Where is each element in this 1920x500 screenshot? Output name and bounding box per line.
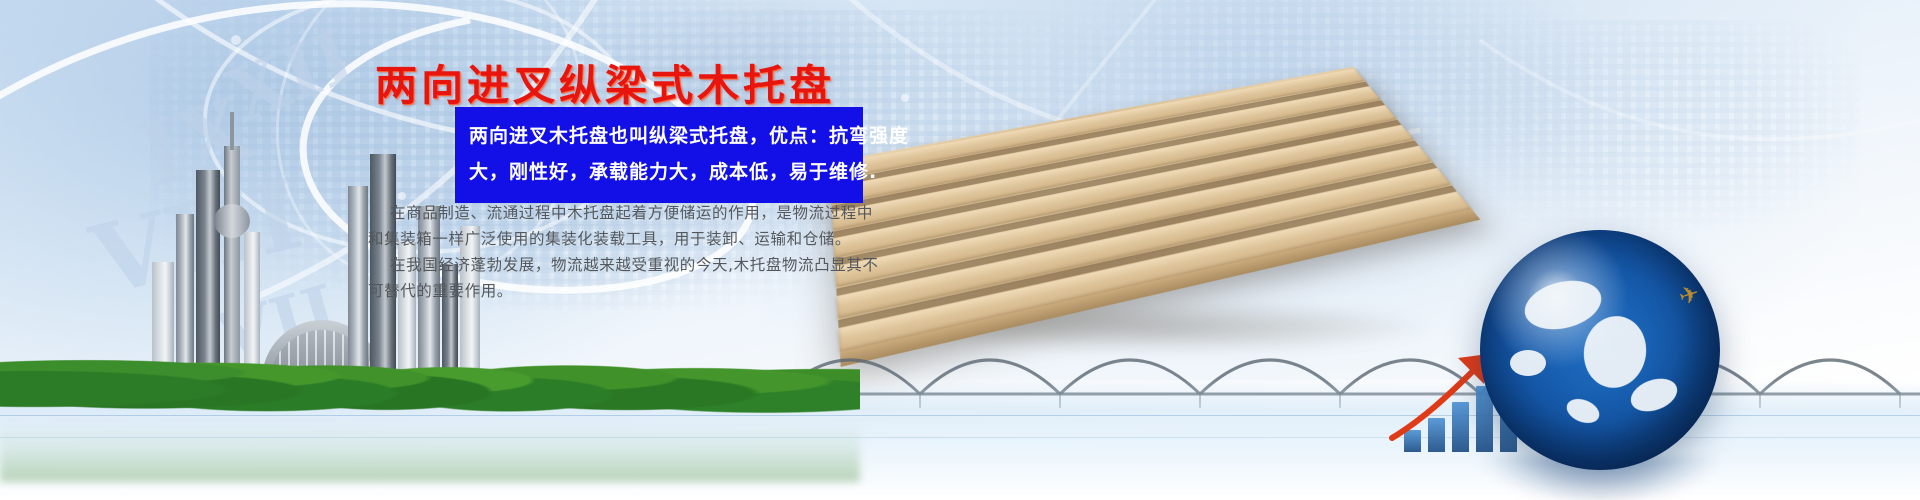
paragraph-line-1: 在商品制造、流通过程中木托盘起着方便储运的作用，是物流过程中	[368, 200, 838, 226]
landmass	[1563, 394, 1603, 427]
dot-mosaic-pattern	[1440, 20, 1860, 230]
paragraph-line-2: 和集装箱一样广泛使用的集装化装载工具，用于装卸、运输和仓储。	[368, 226, 838, 252]
earth-globe-graphic	[1480, 230, 1720, 470]
landmass	[1510, 350, 1546, 376]
paragraph-line-3: 在我国经济蓬勃发展，物流越来越受重视的今天,木托盘物流凸显其不	[368, 252, 838, 278]
landmass	[1578, 311, 1652, 393]
highlight-line-1: 两向进叉木托盘也叫纵梁式托盘，优点：抗弯强度	[469, 118, 849, 154]
highlight-line-2: 大，刚性好，承载能力大，成本低，易于维修.	[469, 154, 849, 190]
foliage-reflection	[0, 420, 860, 482]
landmass	[1626, 373, 1681, 418]
page-title: 两向进叉纵梁式木托盘	[375, 52, 835, 113]
promo-banner: XII IX VIII VII XI IV PLA SH IPL	[0, 0, 1920, 500]
paragraph-line-4: 可替代的重要作用。	[368, 278, 838, 304]
highlight-callout-box: 两向进叉木托盘也叫纵梁式托盘，优点：抗弯强度 大，刚性好，承载能力大，成本低，易…	[455, 107, 863, 203]
description-paragraph: 在商品制造、流通过程中木托盘起着方便储运的作用，是物流过程中 和集装箱一样广泛使…	[368, 200, 838, 304]
tree-foliage-strip	[0, 312, 860, 422]
